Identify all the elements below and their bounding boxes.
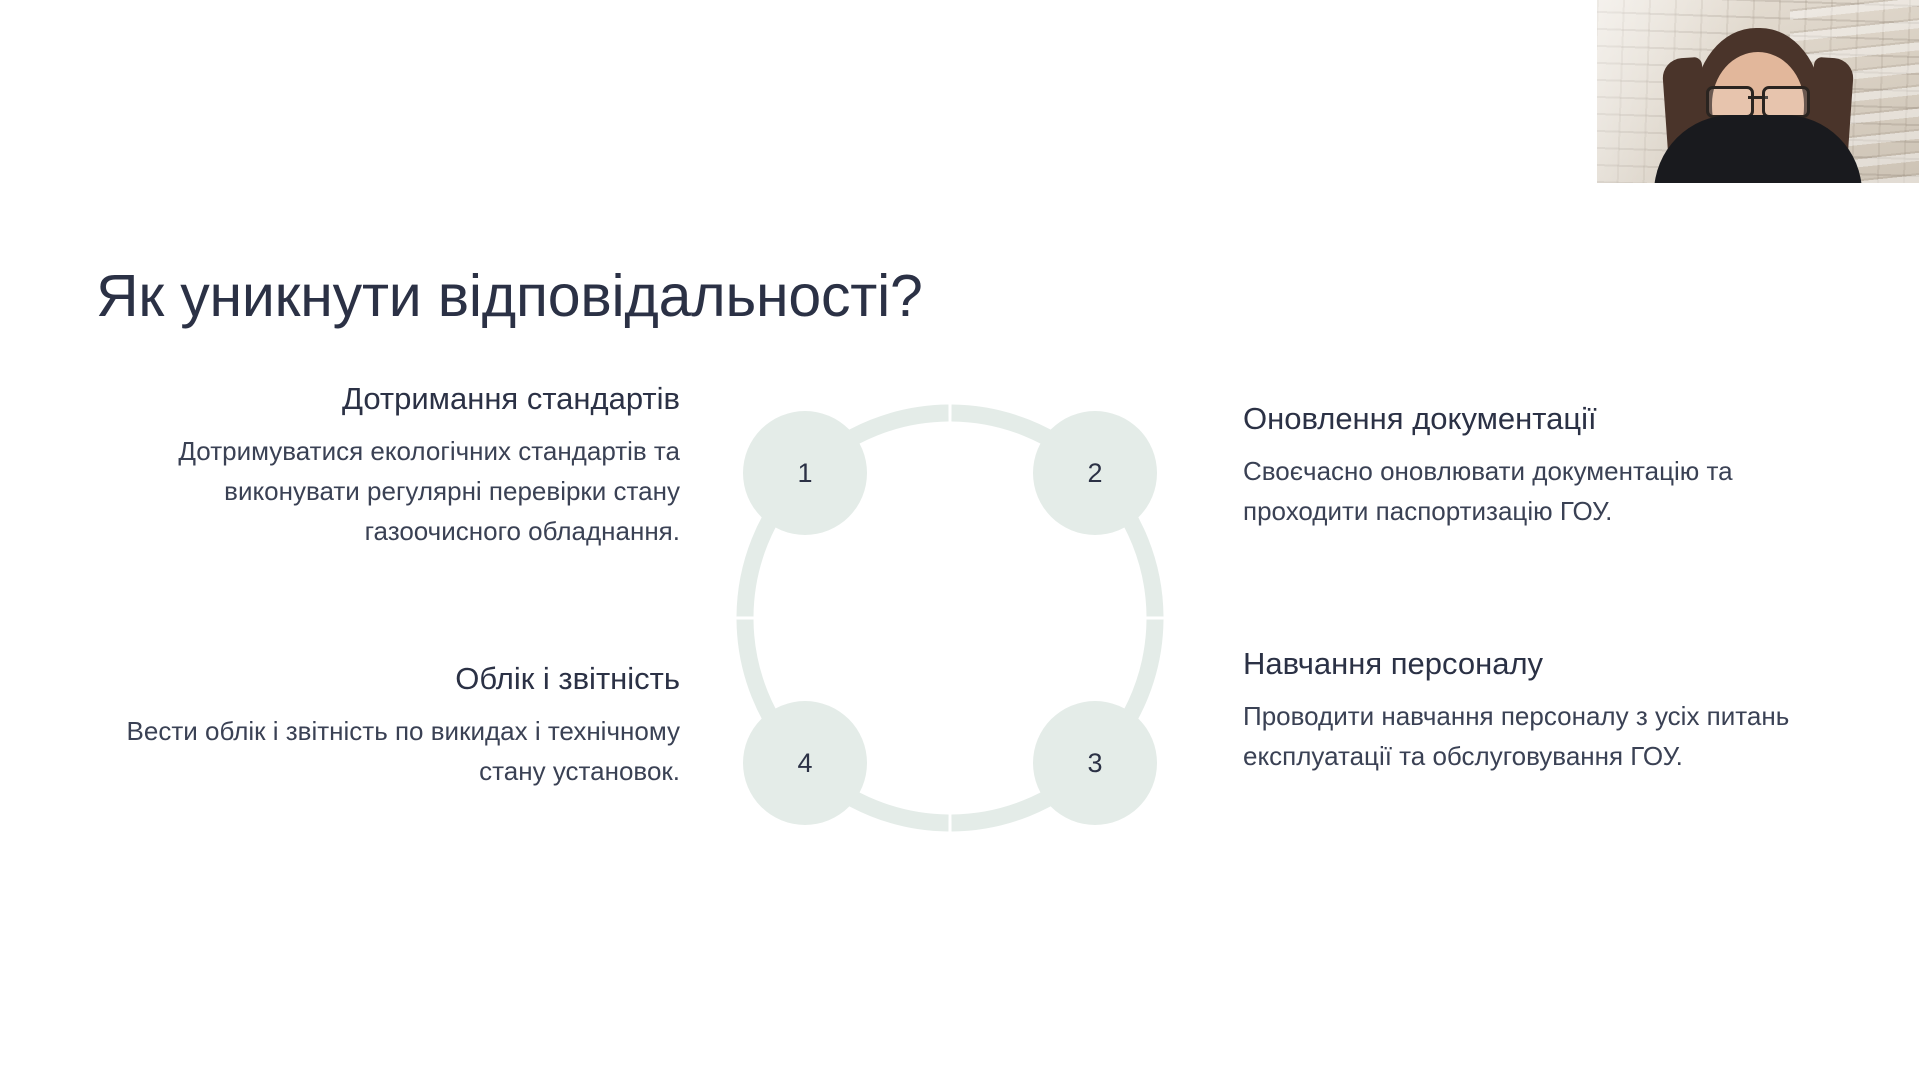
content-block-reporting: Облік і звітність Вести облік і звітніст…	[110, 660, 680, 791]
block-body-documentation: Своєчасно оновлювати документацію та про…	[1243, 451, 1843, 532]
cycle-node-2-label: 2	[1087, 458, 1102, 488]
cycle-node-1[interactable]: 1	[743, 411, 867, 535]
block-body-training: Проводити навчання персоналу з усіх пита…	[1243, 696, 1843, 777]
cycle-diagram: 1 2 3 4	[700, 368, 1200, 868]
cycle-node-1-label: 1	[797, 458, 812, 488]
block-body-reporting: Вести облік і звітність по викидах і тех…	[110, 711, 680, 792]
cycle-node-4[interactable]: 4	[743, 701, 867, 825]
content-block-standards: Дотримання стандартів Дотримуватися екол…	[110, 380, 680, 552]
content-block-training: Навчання персоналу Проводити навчання пе…	[1243, 645, 1843, 776]
presenter-figure	[1597, 0, 1919, 183]
block-heading-standards: Дотримання стандартів	[110, 380, 680, 419]
block-heading-training: Навчання персоналу	[1243, 645, 1843, 684]
cycle-node-4-label: 4	[797, 748, 812, 778]
glasses-lens-left	[1706, 86, 1754, 118]
content-block-documentation: Оновлення документації Своєчасно оновлюв…	[1243, 400, 1843, 531]
page-title: Як уникнути відповідальності?	[96, 262, 923, 330]
glasses-lens-right	[1762, 86, 1810, 118]
block-heading-reporting: Облік і звітність	[110, 660, 680, 699]
cycle-node-2[interactable]: 2	[1033, 411, 1157, 535]
glasses-icon	[1706, 86, 1810, 112]
block-body-standards: Дотримуватися екологічних стандартів та …	[110, 431, 680, 552]
cycle-node-3-label: 3	[1087, 748, 1102, 778]
slide-canvas: Як уникнути відповідальності? Дотримання…	[0, 0, 1919, 1079]
block-heading-documentation: Оновлення документації	[1243, 400, 1843, 439]
cycle-node-3[interactable]: 3	[1033, 701, 1157, 825]
presenter-video-overlay[interactable]	[1597, 0, 1919, 183]
